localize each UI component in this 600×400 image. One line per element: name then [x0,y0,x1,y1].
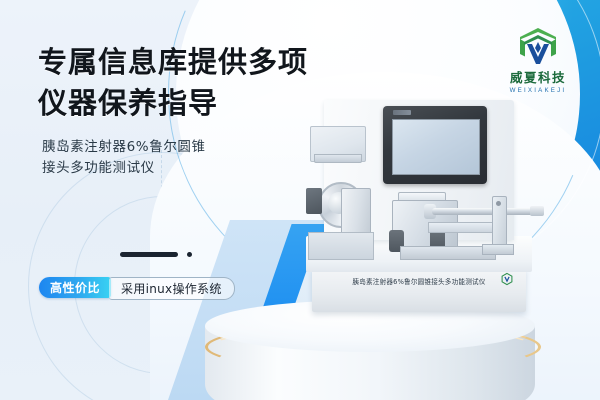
machine-shaft-tip [530,206,544,216]
headline-block: 专属信息库提供多项 仪器保养指导 胰岛素注射器6%鲁尔圆锥 接头多功能测试仪 [38,42,338,179]
machine-hmi-panel [383,106,487,184]
subtitle-block: 胰岛素注射器6%鲁尔圆锥 接头多功能测试仪 [42,137,338,179]
machine-base [312,268,526,312]
machine-shaft [432,208,536,215]
divider-bar [120,252,178,257]
product-podium [205,300,535,400]
hexagon-w-emblem-icon [490,26,586,66]
feature-tag-row: 高性价比 采用inux操作系统 [39,277,235,298]
subtitle-line-1: 胰岛素注射器6%鲁尔圆锥 [42,137,338,158]
subtitle-line-2: 接头多功能测试仪 [42,158,338,179]
headline-line-1: 专属信息库提供多项 [38,42,338,83]
divider-dot [187,252,192,257]
product-banner: 胰岛素注射器6%鲁尔圆锥接头多功能测试仪 [0,0,600,400]
brand-name-en: WEIXIAKEJI [490,87,586,94]
hmi-touchscreen [392,119,480,175]
brand-name-cn: 威夏科技 [490,67,586,86]
headline-line-2: 仪器保养指导 [38,83,338,124]
hmi-brand-strip [393,110,411,115]
machine-left-clamp [306,188,322,214]
machine-bracket-foot [482,244,514,255]
tag-primary: 高性价比 [39,277,111,298]
machine-bracket-hole [496,201,501,206]
tag-secondary: 采用inux操作系统 [109,277,235,300]
machine-caption: 胰岛素注射器6%鲁尔圆锥接头多功能测试仪 [312,276,526,286]
machine-base-logo-icon [496,272,518,291]
machine-left-tray [308,232,374,260]
brand-logo: 威夏科技 WEIXIAKEJI [490,26,586,94]
decorative-divider [120,252,192,257]
